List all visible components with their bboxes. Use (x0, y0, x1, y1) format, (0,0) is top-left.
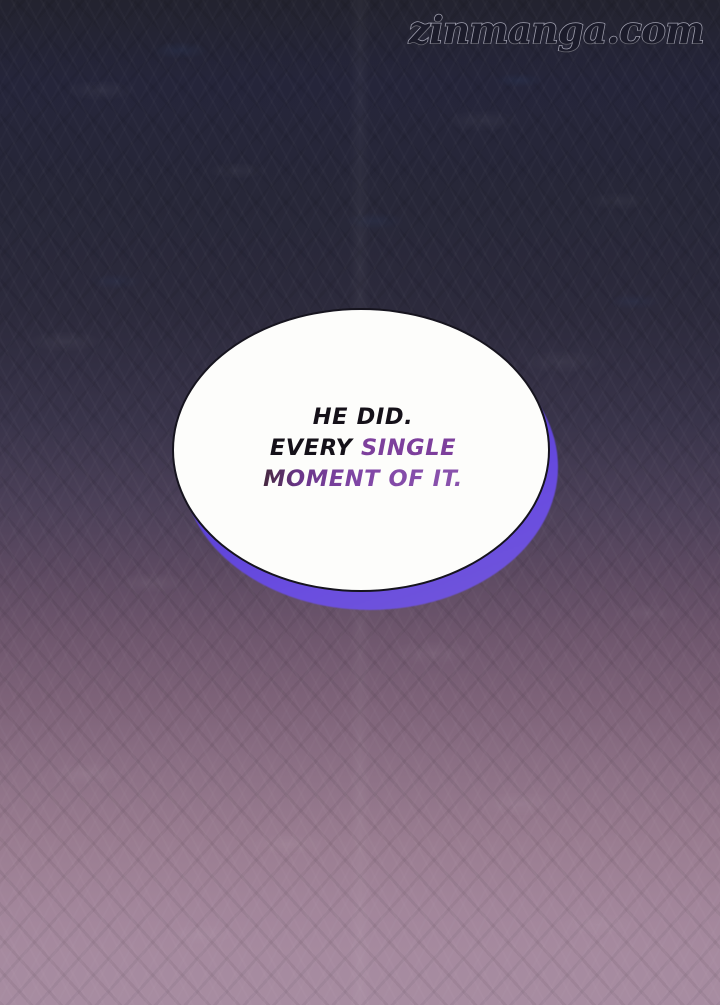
dialogue-line-2: EVERY SINGLE (174, 433, 552, 464)
dialogue-line-1: HE DID. (174, 402, 552, 433)
dialogue-line-1-segment-1: HE DID. (313, 404, 414, 430)
dialogue-line-2-segment-2: SINGLE (361, 435, 456, 461)
dialogue-line-2-segment-1: EVERY (270, 435, 361, 461)
site-watermark: zinmanga.com (409, 8, 704, 52)
dialogue-line-3-segment-1: MOMENT OF IT. (263, 466, 463, 492)
comic-panel: zinmanga.com HE DID. EVERY SINGLE MOMENT… (0, 0, 720, 1005)
dialogue-line-3: MOMENT OF IT. (174, 464, 552, 495)
speech-bubble-text: HE DID. EVERY SINGLE MOMENT OF IT. (174, 402, 552, 495)
speech-bubble: HE DID. EVERY SINGLE MOMENT OF IT. (168, 306, 556, 614)
speech-bubble-body: HE DID. EVERY SINGLE MOMENT OF IT. (172, 308, 550, 592)
